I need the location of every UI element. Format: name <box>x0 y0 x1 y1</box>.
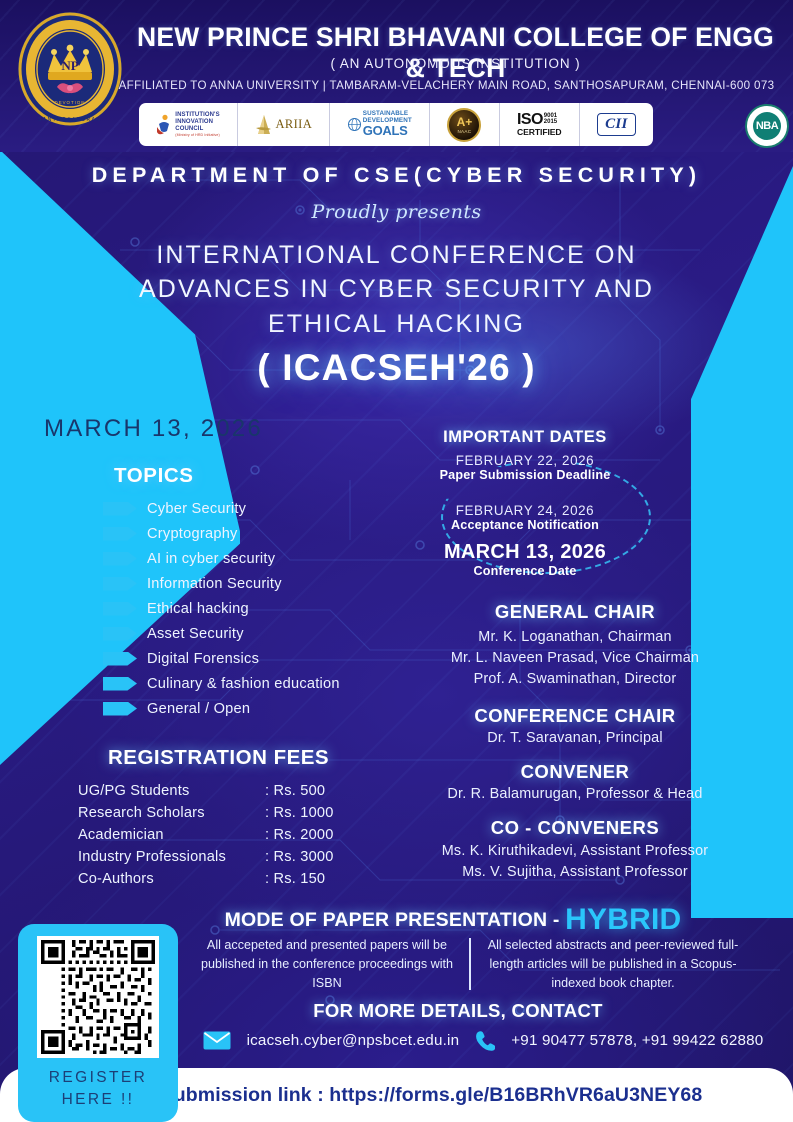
fee-amount: : Rs. 150 <box>265 871 325 887</box>
topic-label: Digital Forensics <box>147 651 259 667</box>
conference-chair-heading: CONFERENCE CHAIR <box>395 705 755 727</box>
iso-word: ISO <box>517 112 543 127</box>
topic-label: Asset Security <box>147 626 244 642</box>
table-row: Academician : Rs. 2000 <box>78 824 358 846</box>
conference-acronym: ( ICACSEH'26 ) <box>100 347 693 389</box>
fee-amount: : Rs. 1000 <box>265 805 334 821</box>
qr-code-box[interactable] <box>37 936 159 1058</box>
important-dates-heading: IMPORTANT DATES <box>400 428 650 447</box>
un-globe-icon <box>348 118 361 131</box>
email-icon[interactable] <box>203 1031 231 1050</box>
page-title: NEW PRINCE SHRI BHAVANI COLLEGE OF ENGG … <box>128 22 783 84</box>
table-row: Co-Authors : Rs. 150 <box>78 868 358 890</box>
accreditation-iso: ISO 9001 2015 CERTIFIED <box>500 103 580 146</box>
list-item: Ethical hacking <box>103 596 433 621</box>
accreditation-iic: INSTITUTION'S INNOVATION COUNCIL (Minist… <box>139 103 238 146</box>
svg-text:SANTHOSAPURAM: SANTHOSAPURAM <box>38 117 102 123</box>
register-label-line-2: HERE !! <box>49 1089 147 1111</box>
registration-fees-table: UG/PG Students : Rs. 500 Research Schola… <box>78 780 358 890</box>
general-chair-member: Mr. K. Loganathan, Chairman <box>395 629 755 645</box>
contact-details-row: icacseh.cyber@npsbcet.edu.in +91 90477 5… <box>193 1030 773 1051</box>
nba-badge-icon: NBA <box>745 104 789 148</box>
conference-poster: NP DEVOTION SANTHOSAPURAM NEW PRINCE SHR… <box>0 0 793 1122</box>
fee-category: UG/PG Students <box>78 783 265 799</box>
registration-fees-heading: REGISTRATION FEES <box>108 746 329 770</box>
fee-category: Research Scholars <box>78 805 265 821</box>
iso-number-2: 2015 <box>544 119 557 125</box>
qr-code-icon[interactable] <box>41 940 155 1054</box>
conference-chair-member: Dr. T. Saravanan, Principal <box>395 730 755 746</box>
topic-label: AI in cyber security <box>147 551 275 567</box>
register-label-line-1: REGISTER <box>49 1067 147 1089</box>
list-item: Information Security <box>103 571 433 596</box>
publication-notes: All accepeted and presented papers will … <box>185 936 755 993</box>
topic-label: Information Security <box>147 576 282 592</box>
date-value: MARCH 13, 2026 <box>400 541 650 564</box>
accreditation-sdg: SUSTAINABLE DEVELOPMENT GOALS <box>330 103 430 146</box>
affiliation-line: AFFILIATED TO ANNA UNIVERSITY | TAMBARAM… <box>110 79 783 92</box>
topics-list: Cyber Security Cryptography AI in cyber … <box>103 496 433 721</box>
fee-category: Co-Authors <box>78 871 265 887</box>
fee-amount: : Rs. 2000 <box>265 827 334 843</box>
general-chair-heading: GENERAL CHAIR <box>395 601 755 623</box>
chevron-right-icon <box>103 652 137 666</box>
important-date-entry-1: FEBRUARY 22, 2026 Paper Submission Deadl… <box>400 453 650 482</box>
co-convener-member: Ms. V. Sujitha, Assistant Professor <box>395 864 755 880</box>
table-row: Industry Professionals : Rs. 3000 <box>78 846 358 868</box>
date-value: FEBRUARY 24, 2026 <box>400 503 650 518</box>
topic-label: Cryptography <box>147 526 238 542</box>
accreditation-cii: CII <box>580 103 653 146</box>
accreditation-naac: A+ NAAC <box>430 103 500 146</box>
register-qr-panel[interactable]: REGISTER HERE !! <box>18 924 178 1122</box>
svg-text:DEVOTION: DEVOTION <box>55 100 86 105</box>
general-chair-member: Mr. L. Naveen Prasad, Vice Chairman <box>395 650 755 666</box>
contact-heading: FOR MORE DETAILS, CONTACT <box>193 1000 723 1022</box>
topic-label: Ethical hacking <box>147 601 249 617</box>
department-title: DEPARTMENT OF CSE(CYBER SECURITY) <box>0 163 793 188</box>
list-item: General / Open <box>103 696 433 721</box>
naac-label: NAAC <box>457 129 471 134</box>
conference-title-line-2: ADVANCES IN CYBER SECURITY AND <box>100 272 693 306</box>
publication-note-right: All selected abstracts and peer-reviewed… <box>471 936 755 993</box>
conference-date-banner: MARCH 13, 2026 <box>44 415 263 443</box>
poster-header: NP DEVOTION SANTHOSAPURAM NEW PRINCE SHR… <box>0 0 793 152</box>
fee-category: Industry Professionals <box>78 849 265 865</box>
topic-label: General / Open <box>147 701 250 717</box>
ariia-logo-icon <box>255 114 272 135</box>
publication-note-left: All accepeted and presented papers will … <box>185 936 469 993</box>
mode-value-badge: HYBRID <box>565 903 681 936</box>
fee-amount: : Rs. 3000 <box>265 849 334 865</box>
date-label: Paper Submission Deadline <box>400 468 650 482</box>
list-item: Digital Forensics <box>103 646 433 671</box>
accreditation-bar: INSTITUTION'S INNOVATION COUNCIL (Minist… <box>139 103 653 146</box>
date-label: Conference Date <box>400 564 650 578</box>
chevron-right-icon <box>103 577 137 591</box>
nba-label: NBA <box>753 112 781 140</box>
sdg-goals-label: GOALS <box>363 124 412 138</box>
list-item: Cyber Security <box>103 496 433 521</box>
table-row: Research Scholars : Rs. 1000 <box>78 802 358 824</box>
general-chair-member: Prof. A. Swaminathan, Director <box>395 671 755 687</box>
chevron-right-icon <box>103 677 137 691</box>
chevron-right-icon <box>103 502 137 516</box>
important-date-entry-2: FEBRUARY 24, 2026 Acceptance Notificatio… <box>400 503 650 532</box>
date-label: Acceptance Notification <box>400 518 650 532</box>
autonomous-subtitle: ( AN AUTONOMOUS INSTITUTION ) <box>128 56 783 71</box>
list-item: Cryptography <box>103 521 433 546</box>
co-convener-member: Ms. K. Kiruthikadevi, Assistant Professo… <box>395 843 755 859</box>
ariia-label: ARIIA <box>275 117 312 132</box>
naac-badge-icon: A+ NAAC <box>447 108 481 142</box>
topic-label: Cyber Security <box>147 501 246 517</box>
important-date-entry-3: MARCH 13, 2026 Conference Date <box>400 541 650 578</box>
conference-title-line-3: ETHICAL HACKING <box>100 307 693 341</box>
conference-title: INTERNATIONAL CONFERENCE ON ADVANCES IN … <box>100 238 693 341</box>
topic-label: Culinary & fashion education <box>147 676 340 692</box>
date-value: FEBRUARY 22, 2026 <box>400 453 650 468</box>
fee-category: Academician <box>78 827 265 843</box>
submission-link[interactable]: Submission link : https://forms.gle/B16B… <box>161 1084 703 1107</box>
iso-certified-label: CERTIFIED <box>517 127 561 137</box>
iic-label: INSTITUTION'S INNOVATION COUNCIL (Minist… <box>175 112 220 137</box>
list-item: Culinary & fashion education <box>103 671 433 696</box>
contact-phone[interactable]: +91 90477 57878, +91 99422 62880 <box>511 1032 763 1049</box>
svg-text:NP: NP <box>61 58 78 73</box>
cii-label: CII <box>597 113 636 136</box>
table-row: UG/PG Students : Rs. 500 <box>78 780 358 802</box>
convener-heading: CONVENER <box>395 761 755 783</box>
college-crest-icon: NP DEVOTION SANTHOSAPURAM <box>14 10 126 128</box>
iic-figure-icon <box>156 114 172 136</box>
accreditation-ariia: ARIIA <box>238 103 330 146</box>
list-item: AI in cyber security <box>103 546 433 571</box>
contact-email[interactable]: icacseh.cyber@npsbcet.edu.in <box>247 1032 460 1049</box>
naac-grade: A+ <box>457 116 473 128</box>
co-conveners-heading: CO - CONVENERS <box>395 817 755 839</box>
chevron-right-icon <box>103 702 137 716</box>
proudly-presents-text: Proudly presents <box>0 201 793 223</box>
chevron-right-icon <box>103 602 137 616</box>
mode-of-presentation-row: MODE OF PAPER PRESENTATION - HYBRID <box>193 903 713 937</box>
chevron-right-icon <box>103 527 137 541</box>
mode-label: MODE OF PAPER PRESENTATION - <box>225 909 566 931</box>
fee-amount: : Rs. 500 <box>265 783 325 799</box>
conference-title-line-1: INTERNATIONAL CONFERENCE ON <box>100 238 693 272</box>
topics-heading: TOPICS <box>114 464 194 488</box>
phone-icon[interactable] <box>475 1030 495 1051</box>
register-here-label: REGISTER HERE !! <box>49 1067 147 1110</box>
chevron-right-icon <box>103 552 137 566</box>
list-item: Asset Security <box>103 621 433 646</box>
convener-member: Dr. R. Balamurugan, Professor & Head <box>395 786 755 802</box>
chevron-right-icon <box>103 627 137 641</box>
